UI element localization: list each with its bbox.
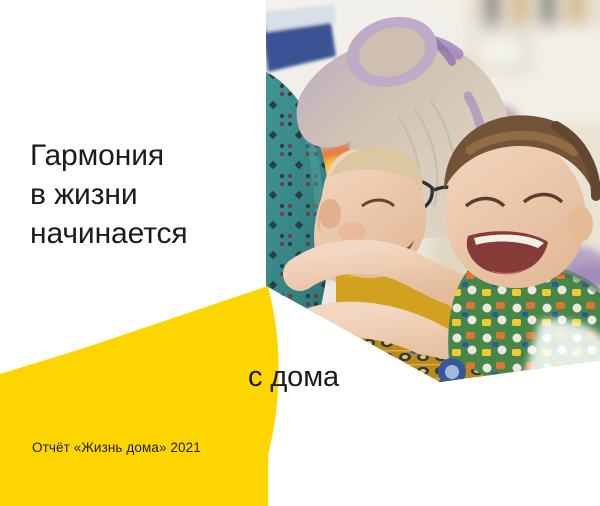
photo-panel — [0, 0, 600, 506]
report-cover: Гармония в жизни начинается с дома Отчёт… — [0, 0, 600, 506]
page-subtitle: с дома — [248, 361, 339, 394]
photo-content — [250, 0, 600, 410]
report-label: Отчёт «Жизнь дома» 2021 — [32, 440, 201, 455]
page-title: Гармония в жизни начинается — [30, 136, 260, 253]
